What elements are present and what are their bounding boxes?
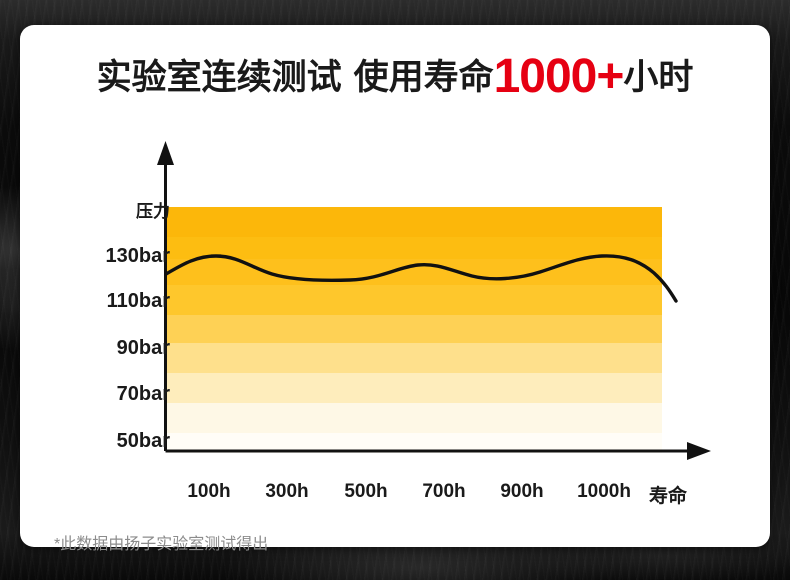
- chart-svg: [20, 25, 770, 547]
- pressure-curve: [166, 256, 676, 301]
- x-tick-900h: 900h: [481, 481, 563, 503]
- x-tick-100h: 100h: [168, 481, 250, 503]
- pressure-lifespan-chart: 压力 130bar 110bar 90bar 70bar 50bar 100h …: [20, 25, 770, 547]
- y-tick-130bar: 130bar: [60, 245, 170, 268]
- x-tick-300h: 300h: [246, 481, 328, 503]
- footnote-text: *此数据由扬子实验室测试得出: [54, 530, 268, 554]
- arrow-up-icon: [157, 141, 174, 165]
- x-tick-500h: 500h: [325, 481, 407, 503]
- arrow-right-icon: [687, 442, 711, 460]
- y-tick-50bar: 50bar: [60, 430, 170, 453]
- y-axis-title: 压力: [104, 197, 170, 222]
- content-card: 实验室连续测试使用寿命1000+小时 压力 130bar 110: [20, 25, 770, 547]
- x-tick-700h: 700h: [403, 481, 485, 503]
- y-tick-110bar: 110bar: [60, 290, 170, 313]
- y-tick-70bar: 70bar: [60, 383, 170, 406]
- x-axis-end-label: 寿命: [633, 481, 703, 508]
- y-tick-90bar: 90bar: [60, 337, 170, 360]
